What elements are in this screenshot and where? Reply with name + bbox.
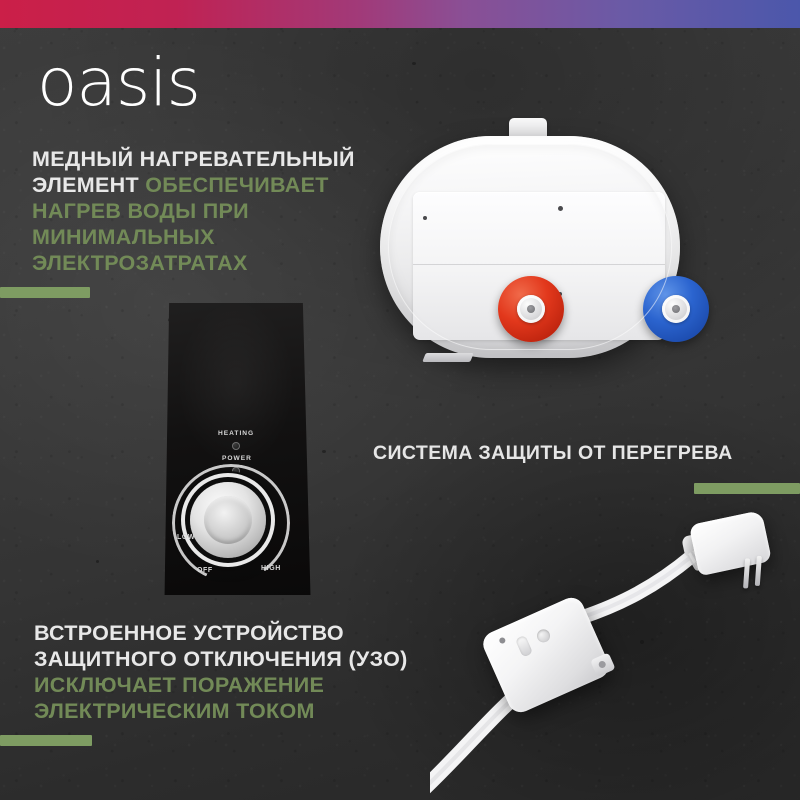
texture-speck: [322, 450, 326, 453]
valve-hub: [662, 295, 690, 323]
accent-bar-lower-left: [0, 735, 92, 746]
power-indicator-label: POWER: [222, 455, 252, 462]
heater-panel-seam: [413, 264, 665, 265]
accent-bar-middle-right: [694, 483, 800, 494]
temperature-knob: [190, 482, 266, 558]
heater-screw-dot: [558, 292, 562, 296]
brand-logo: oasis: [37, 50, 200, 116]
feature-text-green-part: ИСКЛЮЧАЕТ ПОРАЖЕНИЕ ЭЛЕКТРИЧЕСКИМ ТОКОМ: [34, 673, 324, 723]
knob-tick-high: HIGH: [261, 565, 281, 572]
rcd-reset-button: [535, 627, 552, 644]
rcd-screw: [498, 637, 506, 645]
top-gradient-bar: [0, 0, 800, 28]
valve-hub: [517, 295, 545, 323]
knob-tick-off: OFF: [197, 567, 213, 574]
heating-indicator-led: [232, 442, 240, 450]
heater-screw-dot: [558, 206, 563, 211]
rcd-power-plug-image: [430, 500, 800, 800]
heater-shell: [380, 136, 680, 358]
feature-text-overheat-protection: СИСТЕМА ЗАЩИТЫ ОТ ПЕРЕГРЕВА: [373, 442, 733, 465]
texture-speck: [96, 560, 99, 563]
heater-front-panel: [413, 192, 665, 340]
heater-screw-dot: [423, 216, 427, 220]
marketing-banner: oasis МЕДНЫЙ НАГРЕВАТЕЛЬНЫЙ ЭЛЕМЕНТ ОБЕС…: [0, 0, 800, 800]
cold-water-valve: [643, 276, 709, 342]
accent-bar-upper-left: [0, 287, 90, 298]
rcd-test-button: [515, 635, 533, 658]
knob-tick-low: LOW: [177, 534, 195, 541]
heating-indicator-label: HEATING: [218, 430, 254, 437]
feature-text-rcd: ВСТРОЕННОЕ УСТРОЙСТВО ЗАЩИТНОГО ОТКЛЮЧЕН…: [34, 620, 424, 724]
texture-speck: [412, 62, 416, 65]
hot-water-valve: [498, 276, 564, 342]
water-heater-product-image: [372, 118, 690, 380]
feature-text-heating-element: МЕДНЫЙ НАГРЕВАТЕЛЬНЫЙ ЭЛЕМЕНТ ОБЕСПЕЧИВА…: [32, 146, 392, 276]
control-panel-image: HEATING POWER LOW OFF HIGH: [160, 300, 312, 598]
heater-mounting-bracket: [422, 353, 474, 362]
feature-text-white-part: ВСТРОЕННОЕ УСТРОЙСТВО ЗАЩИТНОГО ОТКЛЮЧЕН…: [34, 621, 408, 671]
